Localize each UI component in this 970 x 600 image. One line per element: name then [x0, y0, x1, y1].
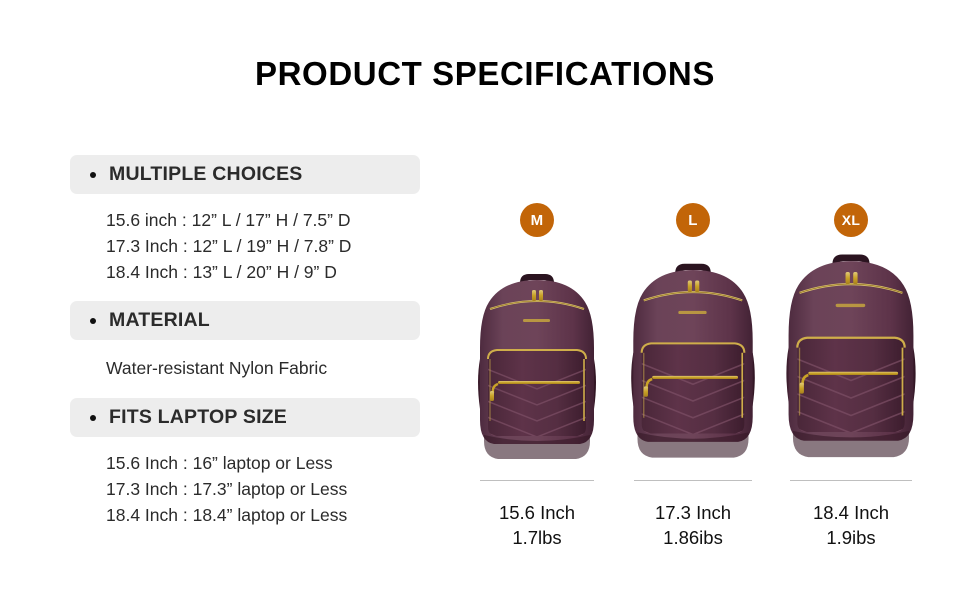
spec-line: 17.3 Inch : 17.3” laptop or Less [106, 476, 420, 502]
spec-header-fits-laptop-size: FITS LAPTOP SIZE [70, 398, 420, 437]
size-badge-xl: XL [834, 203, 868, 237]
product-size-l: L [617, 203, 769, 550]
spec-header-label: MATERIAL [109, 309, 210, 332]
bullet-icon [90, 172, 96, 178]
spec-line: 17.3 Inch : 12” L / 19” H / 7.8” D [106, 233, 420, 259]
product-baseline [480, 480, 594, 481]
spec-lines-material: Water-resistant Nylon Fabric [70, 340, 420, 381]
size-badge-m: M [520, 203, 554, 237]
spec-lines-fits-laptop-size: 15.6 Inch : 16” laptop or Less 17.3 Inch… [70, 437, 420, 528]
specifications-list: MULTIPLE CHOICES 15.6 inch : 12” L / 17”… [70, 155, 420, 542]
spec-header-material: MATERIAL [70, 301, 420, 340]
spec-lines-multiple-choices: 15.6 inch : 12” L / 17” H / 7.5” D 17.3 … [70, 194, 420, 285]
product-baseline [634, 480, 752, 481]
backpack-icon [627, 251, 759, 468]
backpack-image-m [462, 237, 612, 480]
spec-header-label: FITS LAPTOP SIZE [109, 406, 287, 429]
spec-header-label: MULTIPLE CHOICES [109, 163, 303, 186]
spec-line: 18.4 Inch : 18.4” laptop or Less [106, 502, 420, 528]
product-baseline [790, 480, 912, 481]
product-size-label: 18.4 Inch [772, 500, 930, 525]
backpack-image-xl [772, 237, 930, 480]
spec-line: 15.6 Inch : 16” laptop or Less [106, 450, 420, 476]
product-weight-label: 1.86ibs [617, 525, 769, 550]
backpack-icon [782, 241, 920, 468]
spec-section-material: MATERIAL Water-resistant Nylon Fabric [70, 301, 420, 381]
product-weight-label: 1.9ibs [772, 525, 930, 550]
product-size-label: 15.6 Inch [462, 500, 612, 525]
spec-line: 15.6 inch : 12” L / 17” H / 7.5” D [106, 207, 420, 233]
spec-line: 18.4 Inch : 13” L / 20” H / 9” D [106, 259, 420, 285]
backpack-icon [474, 263, 600, 468]
backpack-image-l [617, 237, 769, 480]
spec-section-fits-laptop-size: FITS LAPTOP SIZE 15.6 Inch : 16” laptop … [70, 398, 420, 528]
spec-header-multiple-choices: MULTIPLE CHOICES [70, 155, 420, 194]
product-size-m: M [462, 203, 612, 550]
spec-section-multiple-choices: MULTIPLE CHOICES 15.6 inch : 12” L / 17”… [70, 155, 420, 285]
bullet-icon [90, 318, 96, 324]
page-title: PRODUCT SPECIFICATIONS [0, 55, 970, 93]
bullet-icon [90, 415, 96, 421]
product-size-label: 17.3 Inch [617, 500, 769, 525]
spec-line: Water-resistant Nylon Fabric [106, 355, 420, 381]
product-weight-label: 1.7lbs [462, 525, 612, 550]
product-size-xl: XL [772, 203, 930, 550]
product-size-row: M [462, 150, 932, 550]
size-badge-l: L [676, 203, 710, 237]
